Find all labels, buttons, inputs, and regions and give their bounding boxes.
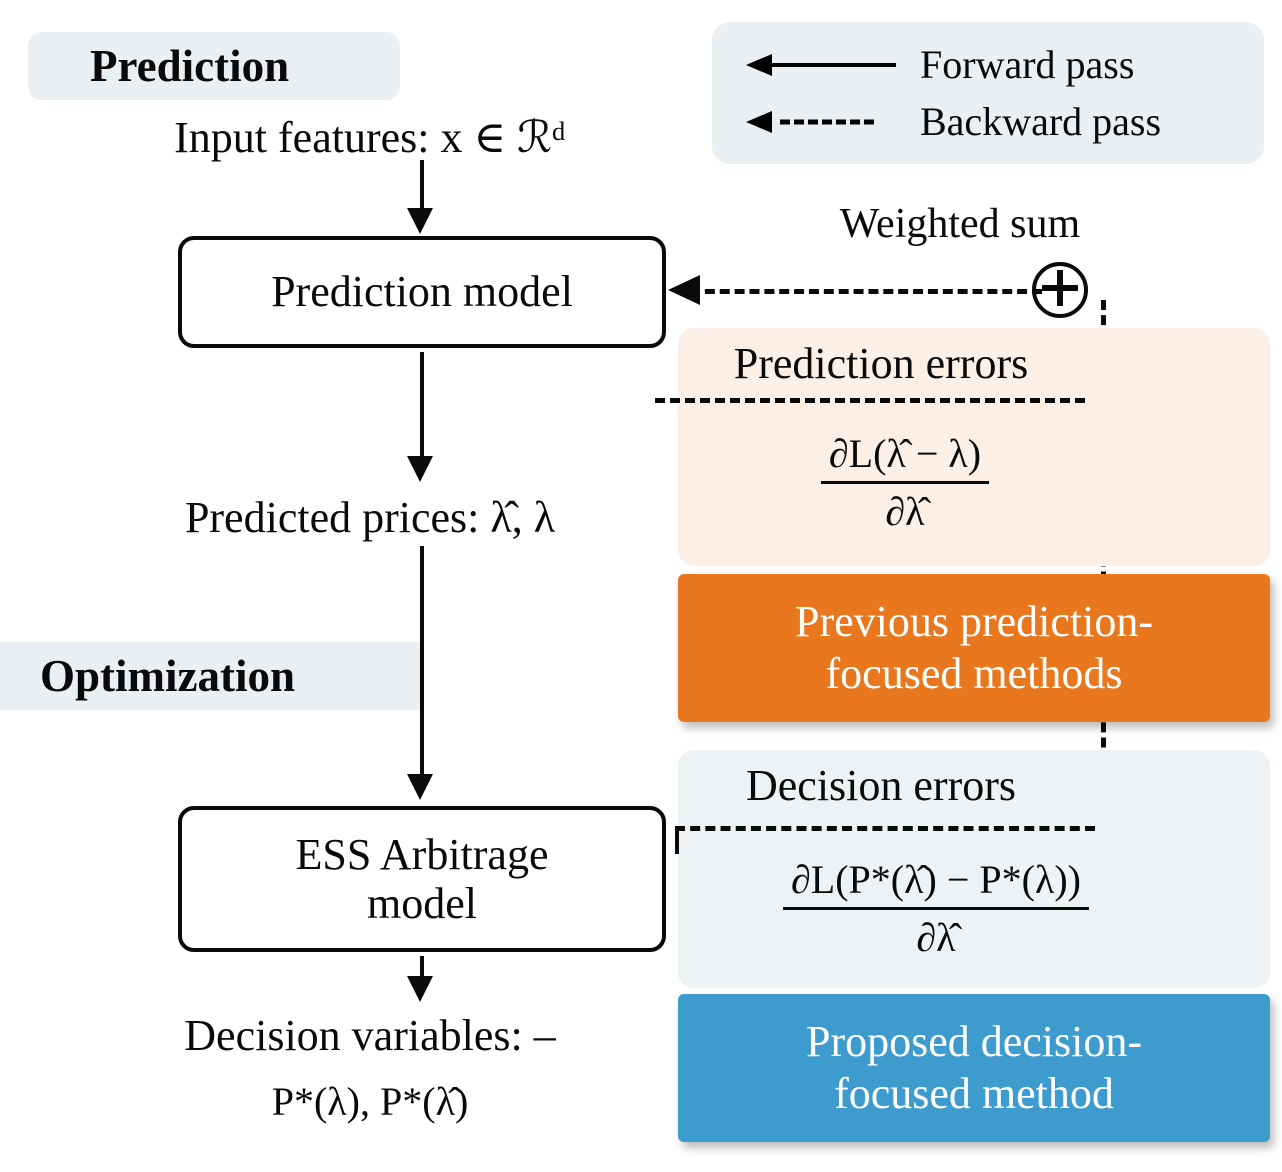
prediction-errors-title: Prediction errors (686, 338, 1076, 389)
section-badge-optimization-label: Optimization (40, 650, 295, 702)
ess-arbitrage-model-label-line1: ESS Arbitrage (296, 830, 549, 879)
ess-arbitrage-model-box[interactable]: ESS Arbitrage model (178, 806, 666, 952)
prediction-model-box[interactable]: Prediction model (178, 236, 666, 348)
predicted-prices-text: Predicted prices: λ̂, λ (80, 492, 660, 543)
connector-input-to-model (420, 160, 424, 212)
backward-arrow-head-icon (668, 275, 700, 305)
plus-vertical-stroke (1057, 270, 1063, 306)
proposed-decision-focused-method-box[interactable]: Proposed decision- focused method (678, 994, 1270, 1142)
decision-errors-formula-numerator: ∂L(P*(λ̂) − P*(λ)) (783, 856, 1089, 910)
connector-prices-to-ess (420, 546, 424, 778)
connector-prices-to-ess-arrowhead (407, 774, 433, 800)
previous-methods-label-line1: Previous prediction- (795, 597, 1153, 646)
ess-arbitrage-model-label-line2: model (367, 879, 477, 928)
proposed-method-label-line2: focused method (834, 1069, 1114, 1118)
section-badge-optimization: Optimization (0, 642, 420, 710)
legend-item-forward-pass: Forward pass (746, 36, 1246, 93)
previous-methods-label-line2: focused methods (826, 649, 1123, 698)
connector-model-to-prices-arrowhead (407, 456, 433, 482)
decision-errors-dashed-line (675, 826, 1095, 831)
decision-errors-formula: ∂L(P*(λ̂) − P*(λ)) ∂λ̂ (686, 856, 1186, 962)
legend-item-forward-pass-label: Forward pass (908, 41, 1134, 88)
solid-arrow-left-icon (746, 50, 908, 80)
input-features-text: Input features: x ∈ ℛᵈ (80, 112, 660, 163)
weighted-sum-label: Weighted sum (800, 200, 1120, 248)
backward-dashed-arrow-line (690, 289, 1042, 294)
diagram-canvas: Prediction Optimization Forward pass Bac… (0, 0, 1282, 1172)
decision-errors-dashed-corner (675, 826, 679, 854)
connector-model-to-prices (420, 352, 424, 460)
decision-errors-formula-denominator: ∂λ̂ (783, 910, 1089, 962)
prediction-errors-formula-numerator: ∂L(λ̂ − λ) (821, 430, 989, 484)
section-badge-prediction: Prediction (28, 32, 400, 100)
decision-variables-detail-text: P*(λ), P*(λ̂) (60, 1078, 680, 1125)
decision-errors-title: Decision errors (686, 760, 1076, 811)
previous-prediction-focused-methods-box[interactable]: Previous prediction- focused methods (678, 574, 1270, 722)
prediction-errors-dashed-line (655, 398, 1085, 403)
prediction-errors-formula: ∂L(λ̂ − λ) ∂λ̂ (690, 430, 1120, 536)
connector-ess-to-decision-arrowhead (407, 976, 433, 1002)
decision-variables-text: Decision variables: – (60, 1010, 680, 1061)
legend-item-backward-pass: Backward pass (746, 93, 1246, 150)
dashed-arrow-left-icon (746, 107, 908, 137)
prediction-errors-formula-denominator: ∂λ̂ (821, 484, 989, 536)
section-badge-prediction-label: Prediction (90, 40, 289, 92)
legend-panel: Forward pass Backward pass (712, 22, 1264, 164)
legend-item-backward-pass-label: Backward pass (908, 98, 1161, 145)
prediction-model-box-label: Prediction model (271, 267, 573, 316)
proposed-method-label-line1: Proposed decision- (806, 1017, 1142, 1066)
connector-input-to-model-arrowhead (407, 208, 433, 234)
